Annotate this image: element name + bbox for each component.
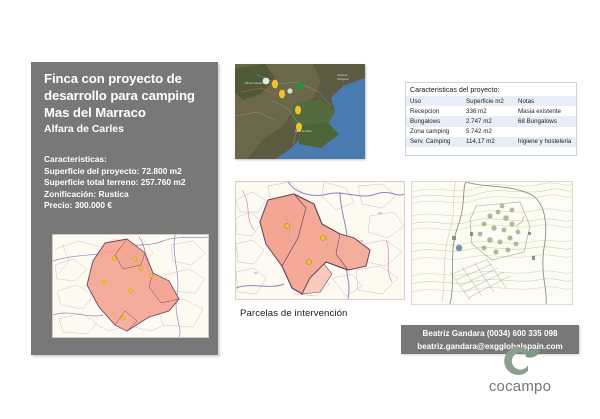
- row-0-superficie: 336 m2: [462, 106, 514, 116]
- table-row: Recepcion 336 m2 Masia existente: [406, 106, 576, 116]
- cadastral-map-caption: Parcelas de intervención: [240, 308, 347, 319]
- page-title: Finca con proyecto de desarrollo para ca…: [44, 70, 212, 121]
- row-0-uso: Recepcion: [406, 106, 462, 116]
- page-title-line-1: Finca con proyecto de: [44, 70, 212, 87]
- table-row: Zona camping 5.742 m2: [406, 127, 576, 137]
- svg-text:204: 204: [378, 212, 383, 215]
- table-header-row: Uso Superficie m2 Notas: [406, 96, 576, 106]
- cadastral-parcels-map: 1271 118 204: [235, 181, 405, 300]
- spec-surface-project: Superficie del proyecto: 72.800 m2: [44, 166, 216, 178]
- property-specs-list: Caracteristicas: Superficie del proyecto…: [44, 154, 216, 212]
- row-2-uso: Zona camping: [406, 127, 462, 137]
- row-1-notas: 68 Bungalows: [514, 116, 576, 126]
- contact-name-phone: Beatriz Gandara (0034) 600 335 098: [401, 325, 579, 341]
- row-0-notas: Masia existente: [514, 106, 576, 116]
- table-row: Serv. Camping 114,17 m2 higiene y hostel…: [406, 137, 576, 147]
- row-3-uso: Serv. Camping: [406, 137, 462, 147]
- cocampo-logo: cocampo: [470, 344, 570, 402]
- page-title-line-2: desarrollo para camping: [44, 87, 212, 104]
- cocampo-c-leaf-icon: [495, 344, 541, 378]
- page-subtitle-location: Alfara de Carles: [44, 122, 212, 136]
- slide-canvas: Finca con proyecto de desarrollo para ca…: [0, 0, 600, 419]
- svg-text:Parque Natural: Parque Natural: [245, 81, 263, 85]
- cadastral-overview-map: [52, 234, 209, 338]
- row-2-superficie: 5.742 m2: [462, 127, 514, 137]
- col-header-uso: Uso: [406, 96, 462, 106]
- project-characteristics-table: Caracteristicas del proyecto: Uso Superf…: [405, 82, 577, 156]
- table-row: Bungalows 2.747 m2 68 Bungalows: [406, 116, 576, 126]
- cadastral-overview-map-graphic: [53, 235, 208, 337]
- cadastral-parcels-map-graphic: 1271 118 204: [236, 182, 404, 299]
- row-1-uso: Bungalows: [406, 116, 462, 126]
- topographic-site-plan: [411, 181, 573, 305]
- svg-text:Delta de l'Ebre: Delta de l'Ebre: [295, 129, 312, 133]
- satellite-location-map: Parque Natural Delta de l'Ebre Costa de …: [235, 64, 365, 159]
- row-1-superficie: 2.747 m2: [462, 116, 514, 126]
- spec-zoning: Zonificación: Rustica: [44, 189, 216, 201]
- svg-text:118: 118: [254, 272, 258, 275]
- spec-price: Precio: 300.000 €: [44, 200, 216, 212]
- specs-heading: Caracteristicas:: [44, 154, 216, 166]
- row-2-notas: [514, 127, 576, 137]
- col-header-superficie: Superficie m2: [462, 96, 514, 106]
- row-3-superficie: 114,17 m2: [462, 137, 514, 147]
- svg-text:1271: 1271: [358, 240, 364, 243]
- col-header-notas: Notas: [514, 96, 576, 106]
- topographic-site-plan-graphic: [412, 182, 572, 304]
- spec-surface-total: Superficie total terreno: 257.760 m2: [44, 177, 216, 189]
- cocampo-wordmark: cocampo: [470, 378, 570, 395]
- project-table: Uso Superficie m2 Notas Recepcion 336 m2…: [406, 96, 576, 147]
- svg-text:Tarragona: Tarragona: [337, 77, 349, 81]
- svg-text:Costa de: Costa de: [337, 73, 348, 77]
- project-table-title: Caracteristicas del proyecto:: [406, 83, 576, 96]
- row-3-notas: higiene y hosteleria: [514, 137, 576, 147]
- satellite-location-map-graphic: Parque Natural Delta de l'Ebre Costa de …: [235, 64, 365, 159]
- page-title-line-3: Mas del Marraco: [44, 104, 212, 121]
